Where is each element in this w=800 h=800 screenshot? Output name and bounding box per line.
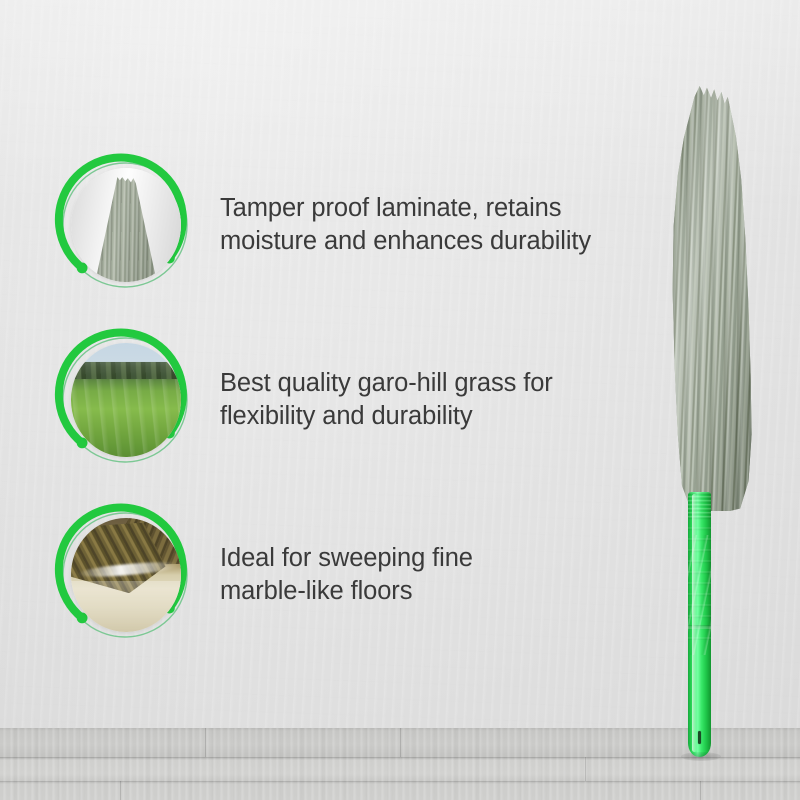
- photo-base: [71, 343, 181, 457]
- photo-haze: [71, 343, 181, 457]
- floor-joint: [585, 757, 586, 781]
- feature-item-tamper-proof-laminate[interactable]: Tamper proof laminate, retains moisture …: [52, 152, 692, 298]
- feature-label: Best quality garo-hill grass for flexibi…: [220, 367, 553, 433]
- floor-joint: [400, 728, 401, 757]
- garo-hill-grass-field-photo: [71, 343, 181, 457]
- feature-badge: [52, 152, 198, 298]
- green-plastic-handle: [688, 492, 711, 757]
- feature-badge: [52, 502, 198, 648]
- feature-item-fine-marble-floors[interactable]: Ideal for sweeping fine marble-like floo…: [52, 502, 692, 648]
- feature-item-garo-hill-grass[interactable]: Best quality garo-hill grass for flexibi…: [52, 327, 692, 473]
- marble-floor-sheen: [71, 581, 181, 632]
- feature-badge: [52, 327, 198, 473]
- sweeping-marble-floor-photo: [71, 518, 181, 632]
- photo-shading: [71, 168, 181, 282]
- broom-bristle-bundle-photo: [71, 168, 181, 282]
- grass-broom-product-photo: [645, 80, 775, 770]
- photo-base: [71, 518, 181, 632]
- floor-joint: [700, 781, 701, 800]
- photo-base: [71, 168, 181, 282]
- broom-bristle-head: [657, 86, 761, 511]
- floor-joint: [205, 728, 206, 757]
- floor-joint: [120, 781, 121, 800]
- feature-label: Tamper proof laminate, retains moisture …: [220, 192, 591, 258]
- feature-label: Ideal for sweeping fine marble-like floo…: [220, 542, 473, 608]
- handle-hang-hole: [698, 731, 701, 744]
- handle-collar: [688, 492, 711, 520]
- infographic-canvas: Tamper proof laminate, retains moisture …: [0, 0, 800, 800]
